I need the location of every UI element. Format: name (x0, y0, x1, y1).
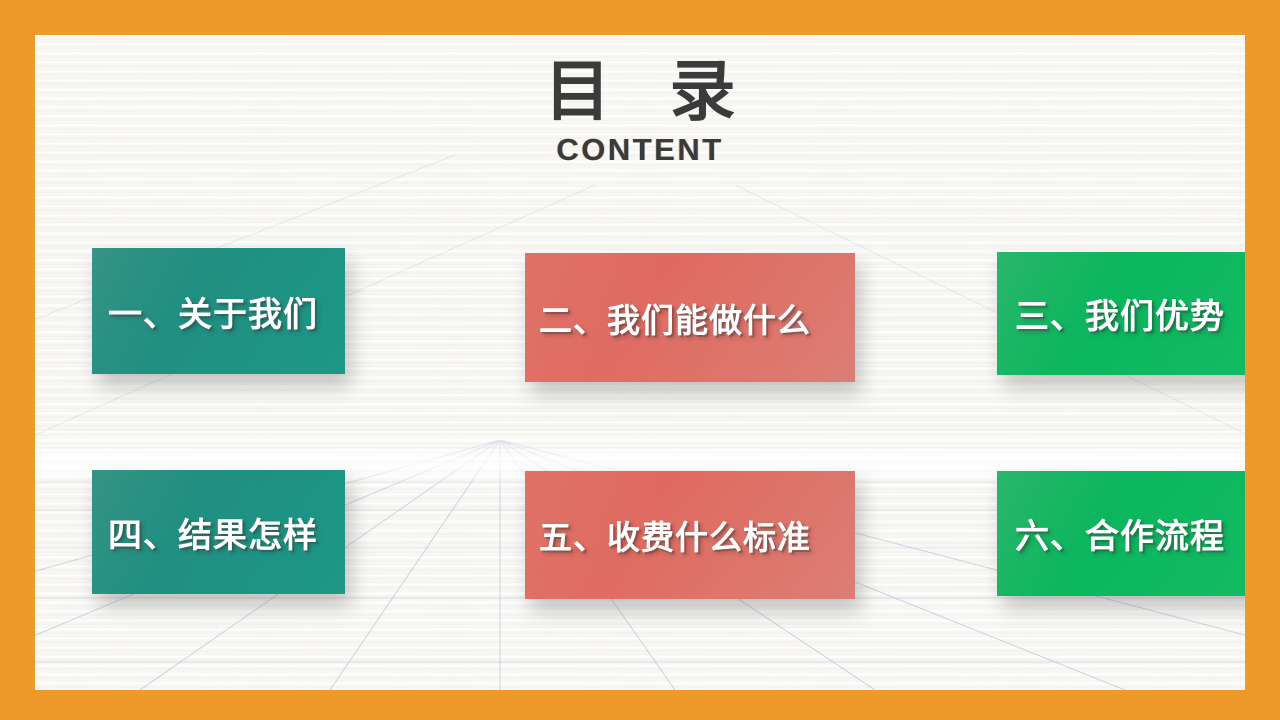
toc-item-3[interactable]: 三、我们优势 (997, 252, 1245, 375)
toc-item-4-label: 四、结果怎样 (92, 508, 318, 557)
toc-item-6-label: 六、合作流程 (997, 509, 1225, 558)
toc-item-4[interactable]: 四、结果怎样 (92, 470, 345, 594)
slide-canvas: 目 录 CONTENT 一、关于我们 二、我们能做什么 三、我们优势 四、结果怎… (35, 35, 1245, 690)
toc-item-6[interactable]: 六、合作流程 (997, 471, 1245, 596)
slide-root: 目 录 CONTENT 一、关于我们 二、我们能做什么 三、我们优势 四、结果怎… (0, 0, 1280, 720)
toc-item-1-label: 一、关于我们 (92, 287, 318, 336)
toc-item-5-label: 五、收费什么标准 (525, 511, 811, 559)
toc-item-3-surface: 三、我们优势 (997, 252, 1245, 375)
toc-item-1[interactable]: 一、关于我们 (92, 248, 345, 374)
heading-block: 目 录 CONTENT (35, 57, 1245, 168)
toc-item-1-surface: 一、关于我们 (92, 248, 345, 374)
toc-item-5-surface: 五、收费什么标准 (525, 471, 855, 599)
page-subtitle: CONTENT (35, 132, 1245, 168)
toc-item-5[interactable]: 五、收费什么标准 (525, 471, 855, 599)
background-upper-lines (35, 35, 1245, 455)
toc-item-2-label: 二、我们能做什么 (525, 294, 811, 342)
toc-item-2-surface: 二、我们能做什么 (525, 253, 855, 382)
toc-item-6-surface: 六、合作流程 (997, 471, 1245, 596)
toc-item-3-label: 三、我们优势 (997, 289, 1225, 338)
toc-item-4-surface: 四、结果怎样 (92, 470, 345, 594)
toc-item-2[interactable]: 二、我们能做什么 (525, 253, 855, 382)
page-title: 目 录 (35, 57, 1245, 126)
